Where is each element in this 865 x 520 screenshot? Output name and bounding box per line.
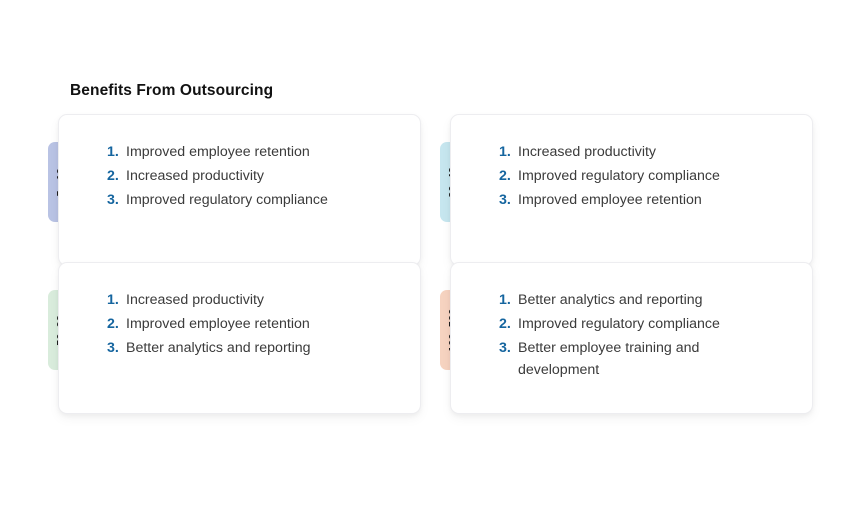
list-item-number: 1. <box>499 289 518 311</box>
benefits-list-3: 1. Better analytics and reporting 2. Imp… <box>499 289 794 381</box>
list-item-number: 3. <box>107 189 126 211</box>
list-item-text: Improved employee retention <box>126 141 402 163</box>
list-item-text: Improved regulatory compliance <box>126 189 402 211</box>
list-item: 1. Better analytics and reporting <box>499 289 794 311</box>
list-item: 1. Increased productivity <box>499 141 794 163</box>
list-item: 2. Improved employee retention <box>107 313 402 335</box>
infographic-canvas: Benefits From Outsourcing 5 - 19 employe… <box>0 0 865 520</box>
list-item-number: 3. <box>107 337 126 359</box>
list-item-text: Improved regulatory compliance <box>518 313 794 335</box>
list-item-number: 3. <box>499 337 518 359</box>
list-item: 1. Improved employee retention <box>107 141 402 163</box>
list-item-number: 3. <box>499 189 518 211</box>
list-item: 3. Better analytics and reporting <box>107 337 402 359</box>
benefits-list-0: 1. Improved employee retention 2. Increa… <box>107 141 402 211</box>
list-item-text: Increased productivity <box>518 141 794 163</box>
list-item-number: 2. <box>499 313 518 335</box>
list-item-number: 2. <box>499 165 518 187</box>
list-item: 3. Better employee training and developm… <box>499 337 794 381</box>
list-item-text: Increased productivity <box>126 165 402 187</box>
list-item-text: Improved employee retention <box>518 189 794 211</box>
list-item-number: 1. <box>499 141 518 163</box>
list-item-number: 2. <box>107 165 126 187</box>
benefits-list-1: 1. Increased productivity 2. Improved re… <box>499 141 794 211</box>
list-item: 3. Improved employee retention <box>499 189 794 211</box>
benefits-card-2: 1. Increased productivity 2. Improved em… <box>58 262 421 414</box>
list-item: 2. Increased productivity <box>107 165 402 187</box>
list-item: 3. Improved regulatory compliance <box>107 189 402 211</box>
list-item: 1. Increased productivity <box>107 289 402 311</box>
list-item-text: Improved regulatory compliance <box>518 165 794 187</box>
list-item-text: Better analytics and reporting <box>126 337 402 359</box>
benefits-card-3: 1. Better analytics and reporting 2. Imp… <box>450 262 813 414</box>
list-item-text: Improved employee retention <box>126 313 402 335</box>
list-item-number: 1. <box>107 289 126 311</box>
list-item-text: Increased productivity <box>126 289 402 311</box>
benefits-list-2: 1. Increased productivity 2. Improved em… <box>107 289 402 359</box>
list-item-text: Better analytics and reporting <box>518 289 794 311</box>
list-item: 2. Improved regulatory compliance <box>499 165 794 187</box>
list-item-text: Better employee training and development <box>518 337 708 381</box>
list-item-number: 1. <box>107 141 126 163</box>
benefits-card-1: 1. Increased productivity 2. Improved re… <box>450 114 813 266</box>
list-item-number: 2. <box>107 313 126 335</box>
card-grid: 5 - 19 employees 1. Improved employee re… <box>0 0 865 520</box>
benefits-card-0: 1. Improved employee retention 2. Increa… <box>58 114 421 266</box>
list-item: 2. Improved regulatory compliance <box>499 313 794 335</box>
